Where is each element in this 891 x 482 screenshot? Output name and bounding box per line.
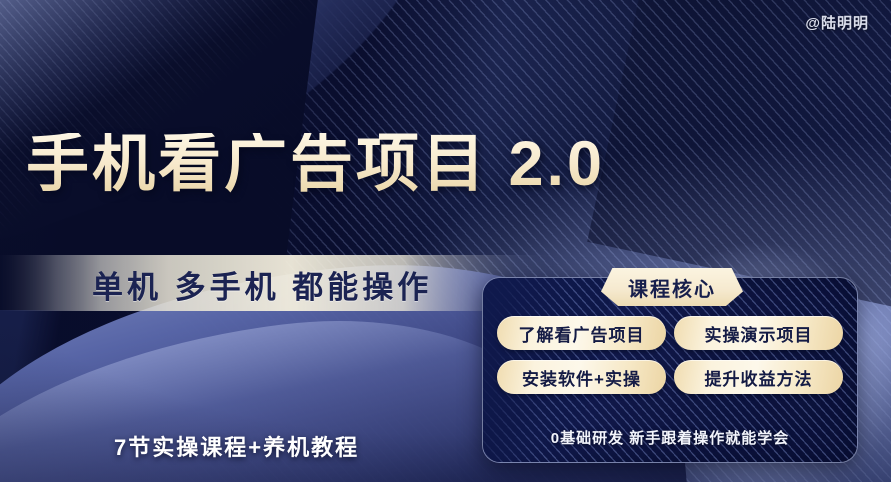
course-core-pill-grid: 了解看广告项目 实操演示项目 安装软件+实操 提升收益方法 xyxy=(483,316,857,394)
course-pill-demo[interactable]: 实操演示项目 xyxy=(674,316,843,350)
course-count-caption: 7节实操课程+养机教程 xyxy=(114,430,359,462)
course-pill-install[interactable]: 安装软件+实操 xyxy=(497,360,666,394)
course-pill-label: 提升收益方法 xyxy=(705,365,813,390)
author-watermark: @陆明明 xyxy=(805,12,869,33)
background-corner-stripes xyxy=(0,0,360,240)
page-title: 手机看广告项目 2.0 xyxy=(26,133,605,196)
course-pill-label: 实操演示项目 xyxy=(705,321,813,346)
course-pill-understand[interactable]: 了解看广告项目 xyxy=(497,316,666,350)
course-core-tab-label: 课程核心 xyxy=(628,273,716,302)
course-core-tab: 课程核心 xyxy=(601,268,743,306)
course-pill-earnings[interactable]: 提升收益方法 xyxy=(674,360,843,394)
course-pill-label: 了解看广告项目 xyxy=(519,321,645,346)
promo-poster: @陆明明 手机看广告项目 2.0 单机 多手机 都能操作 7节实操课程+养机教程… xyxy=(0,0,891,482)
course-pill-label: 安装软件+实操 xyxy=(522,365,641,390)
card-footer-text: 0基础研发 新手跟着操作就能学会 xyxy=(483,427,857,448)
subtitle-text: 单机 多手机 都能操作 xyxy=(92,262,432,307)
